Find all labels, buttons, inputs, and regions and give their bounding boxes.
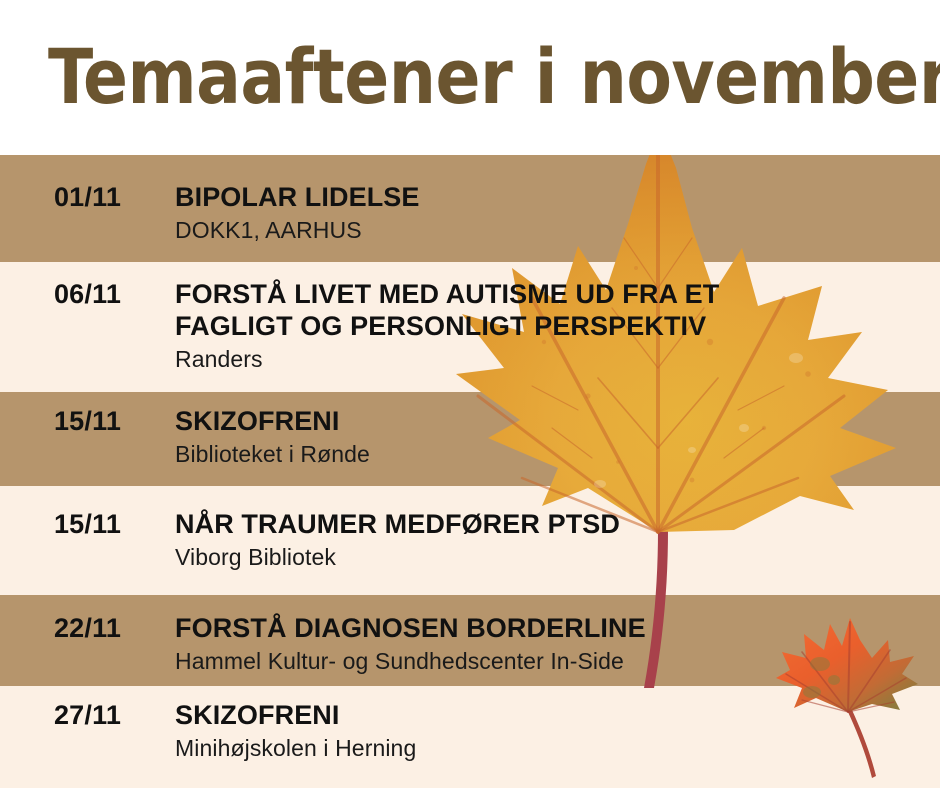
list-item[interactable]: 22/11 FORSTÅ DIAGNOSEN BORDERLINE Hammel… — [0, 613, 940, 676]
list-item[interactable]: 06/11 FORSTÅ LIVET MED AUTISME UD FRA ET… — [0, 279, 940, 373]
event-location: Randers — [175, 345, 930, 374]
poster-canvas: Temaaftener i november 01/11 BIPOLAR LID… — [0, 0, 940, 788]
event-title: NÅR TRAUMER MEDFØRER PTSD — [175, 509, 930, 541]
event-title: SKIZOFRENI — [175, 406, 930, 438]
event-date: 01/11 — [0, 182, 175, 213]
event-info: FORSTÅ DIAGNOSEN BORDERLINE Hammel Kultu… — [175, 613, 940, 676]
title-bar: Temaaftener i november — [0, 0, 940, 155]
event-title: FORSTÅ DIAGNOSEN BORDERLINE — [175, 613, 930, 645]
list-item[interactable]: 15/11 SKIZOFRENI Biblioteket i Rønde — [0, 406, 940, 469]
stripe-background-group — [0, 155, 940, 788]
event-date: 15/11 — [0, 406, 175, 437]
list-item[interactable]: 01/11 BIPOLAR LIDELSE DOKK1, AARHUS — [0, 182, 940, 245]
event-info: SKIZOFRENI Biblioteket i Rønde — [175, 406, 940, 469]
event-date: 15/11 — [0, 509, 175, 540]
list-item[interactable]: 15/11 NÅR TRAUMER MEDFØRER PTSD Viborg B… — [0, 509, 940, 572]
event-title: FORSTÅ LIVET MED AUTISME UD FRA ET FAGLI… — [175, 279, 930, 343]
event-location: Biblioteket i Rønde — [175, 440, 930, 469]
event-info: FORSTÅ LIVET MED AUTISME UD FRA ET FAGLI… — [175, 279, 940, 373]
list-item[interactable]: 27/11 SKIZOFRENI Minihøjskolen i Herning — [0, 700, 940, 763]
event-location: DOKK1, AARHUS — [175, 216, 930, 245]
event-location: Viborg Bibliotek — [175, 543, 930, 572]
event-title: BIPOLAR LIDELSE — [175, 182, 930, 214]
event-date: 06/11 — [0, 279, 175, 310]
event-info: NÅR TRAUMER MEDFØRER PTSD Viborg Bibliot… — [175, 509, 940, 572]
event-title: SKIZOFRENI — [175, 700, 930, 732]
event-info: BIPOLAR LIDELSE DOKK1, AARHUS — [175, 182, 940, 245]
event-info: SKIZOFRENI Minihøjskolen i Herning — [175, 700, 940, 763]
event-date: 27/11 — [0, 700, 175, 731]
event-location: Minihøjskolen i Herning — [175, 734, 930, 763]
page-title: Temaaftener i november — [48, 41, 940, 113]
event-date: 22/11 — [0, 613, 175, 644]
event-location: Hammel Kultur- og Sundhedscenter In-Side — [175, 647, 930, 676]
